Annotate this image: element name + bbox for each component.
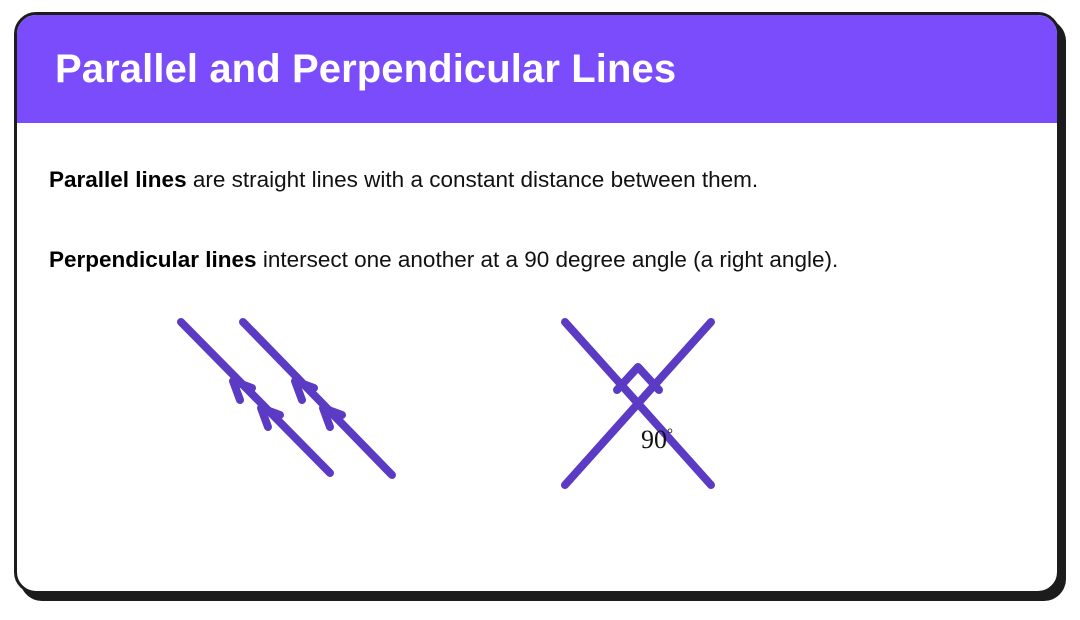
parallel-line-1-arrow-marks — [233, 381, 280, 427]
definition-parallel-term: Parallel lines — [49, 167, 187, 192]
definition-parallel: Parallel lines are straight lines with a… — [49, 165, 758, 194]
perpendicular-lines-diagram — [565, 322, 711, 485]
degree-symbol-icon: ° — [667, 426, 673, 442]
definition-perpendicular: Perpendicular lines intersect one anothe… — [49, 245, 838, 274]
definition-perpendicular-term: Perpendicular lines — [49, 247, 257, 272]
parallel-lines-diagram — [181, 322, 392, 475]
perpendicular-line-2 — [565, 322, 711, 485]
page-title: Parallel and Perpendicular Lines — [55, 49, 676, 89]
parallel-line-2-arrow-marks — [295, 381, 342, 427]
angle-value: 90 — [641, 425, 667, 454]
perpendicular-line-1 — [565, 322, 711, 485]
parallel-line-1 — [181, 322, 330, 473]
card-header: Parallel and Perpendicular Lines — [17, 15, 1057, 123]
screenshot-root: Parallel and Perpendicular Lines Paralle… — [0, 0, 1080, 620]
parallel-line-2 — [243, 322, 392, 475]
card-body: Parallel lines are straight lines with a… — [17, 123, 1057, 591]
lesson-card: Parallel and Perpendicular Lines Paralle… — [14, 12, 1060, 594]
definition-parallel-text: are straight lines with a constant dista… — [187, 167, 759, 192]
angle-label: 90° — [612, 425, 702, 455]
definition-perpendicular-text: intersect one another at a 90 degree ang… — [257, 247, 839, 272]
right-angle-square-icon — [617, 367, 659, 390]
